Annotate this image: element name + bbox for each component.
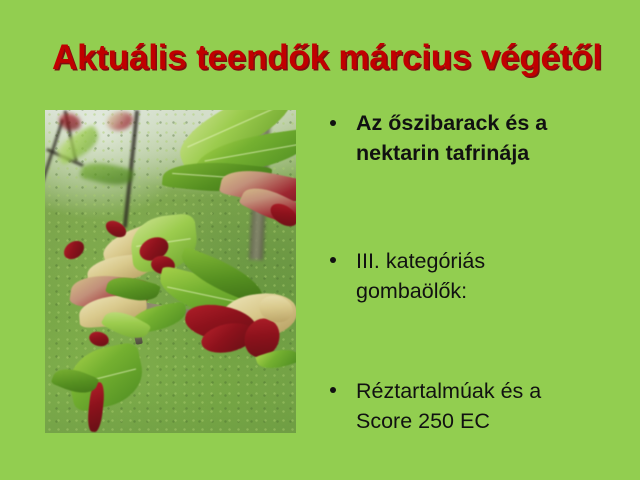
- bullet-list: Az őszibarack és a nektarin tafrinája II…: [322, 108, 622, 436]
- bullet-dot-icon: [330, 257, 336, 263]
- bullet-line: gombaölők:: [356, 276, 622, 306]
- list-item: III. kategóriás gombaölők:: [322, 246, 622, 306]
- page-title: Aktuális teendők március végétől: [52, 36, 612, 80]
- bullet-dot-icon: [330, 387, 336, 393]
- bullet-dot-icon: [330, 120, 336, 126]
- list-item: Az őszibarack és a nektarin tafrinája: [322, 108, 622, 168]
- list-item: Réztartalmúak és a Score 250 EC: [322, 376, 622, 436]
- bullet-line: nektarin tafrinája: [356, 138, 622, 168]
- presentation-slide: Aktuális teendők március végétől: [0, 0, 640, 480]
- bullet-line: Az őszibarack és a: [356, 108, 622, 138]
- bullet-line: Score 250 EC: [356, 406, 622, 436]
- bullet-line: III. kategóriás: [356, 246, 622, 276]
- bullet-line: Réztartalmúak és a: [356, 376, 622, 406]
- slide-image: [45, 110, 296, 433]
